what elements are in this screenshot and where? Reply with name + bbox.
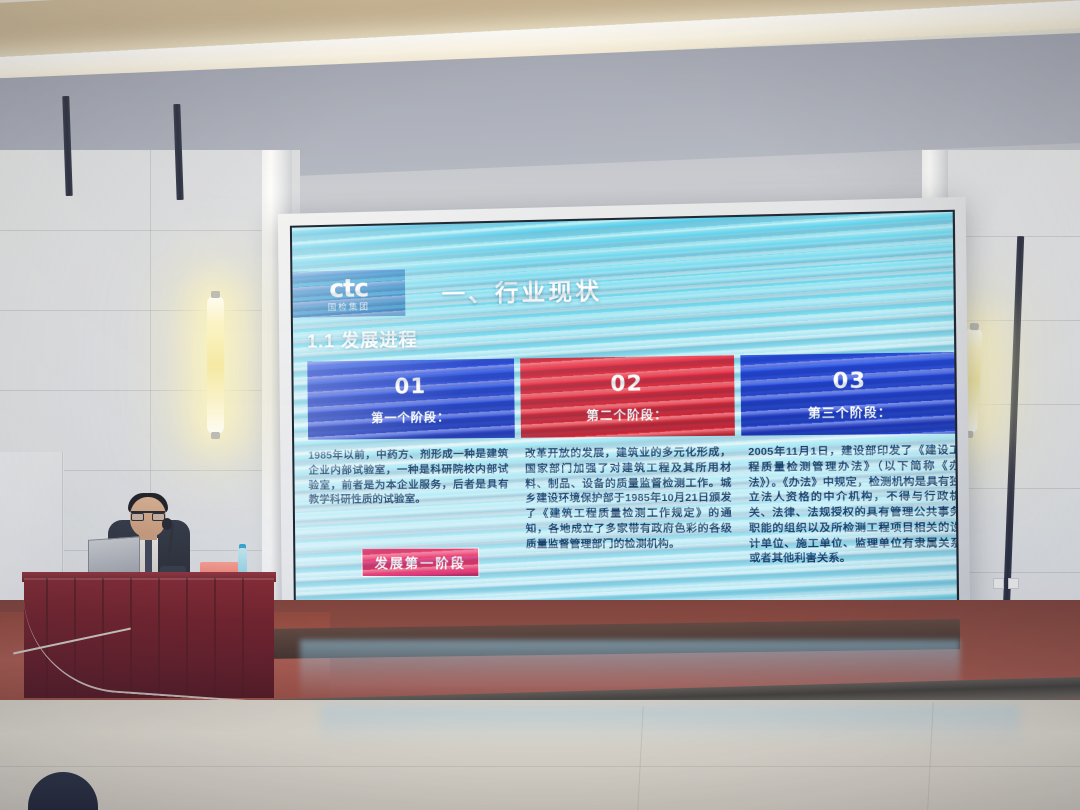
sconce-cap-top <box>211 291 221 298</box>
wall-switch[interactable] <box>993 578 1004 589</box>
phase-body-01: 1985年以前，中药方、剂形成一种是建筑企业内部试验室，一种是科研院校内部试验室… <box>308 448 510 600</box>
phase-number: 02 <box>610 373 643 395</box>
ctc-logo: ctc 国检集团 <box>292 269 405 317</box>
floor-tile-seam <box>0 766 1080 767</box>
phase-banner: 01 第一个阶段： 02 第二个阶段： 03 第三个阶段： <box>307 352 959 440</box>
ctc-logo-subtext: 国检集团 <box>328 303 370 312</box>
glasses-lens-left <box>131 513 144 521</box>
phase-body-02: 改革开放的发展，建筑业的多元化形成，国家部门加强了对建筑工程及其所用材料、制品、… <box>525 446 733 601</box>
phase-label: 第三个阶段： <box>808 406 892 419</box>
slide-header: ctc 国检集团 一、行业现状 <box>292 258 953 318</box>
phase-block-02: 02 第二个阶段： <box>520 355 734 437</box>
presentation-slide: ctc 国检集团 一、行业现状 1.1 发展进程 01 第一个阶段： 02 第二… <box>292 212 957 620</box>
conference-hall-photo: ctc 国检集团 一、行业现状 1.1 发展进程 01 第一个阶段： 02 第二… <box>0 0 1080 810</box>
slide-subtitle: 1.1 发展进程 <box>307 326 418 354</box>
phase-block-03: 03 第三个阶段： <box>740 352 959 436</box>
front-floor-reflection <box>320 706 1020 746</box>
wall-sconce-left <box>207 296 224 434</box>
sconce-cap-top <box>969 323 979 330</box>
slide-text-columns: 1985年以前，中药方、剂形成一种是建筑企业内部试验室，一种是科研院校内部试验室… <box>308 444 959 601</box>
water-bottle <box>238 548 247 574</box>
sconce-tube <box>207 296 224 434</box>
phase-label: 第二个阶段： <box>586 408 668 421</box>
wall-switch[interactable] <box>1008 578 1019 589</box>
phase-block-01: 01 第一个阶段： <box>307 359 515 440</box>
led-screen[interactable]: ctc 国检集团 一、行业现状 1.1 发展进程 01 第一个阶段： 02 第二… <box>290 210 959 622</box>
led-screen-frame: ctc 国检集团 一、行业现状 1.1 发展进程 01 第一个阶段： 02 第二… <box>278 197 971 637</box>
phase-body-03: 2005年11月1日，建设部印发了《建设工程质量检测管理办法》（以下简称《办法》… <box>748 444 959 601</box>
phase-number: 01 <box>394 375 426 397</box>
phase-number: 03 <box>832 369 866 391</box>
ctc-logo-text: ctc <box>329 275 368 301</box>
slide-section-title: 一、行业现状 <box>441 271 602 309</box>
stage-highlight-tag: 发展第一阶段 <box>361 548 479 577</box>
presenter-tie <box>145 540 152 576</box>
glasses-icon <box>131 511 165 519</box>
phase-label: 第一个阶段： <box>371 411 450 424</box>
sconce-cap-bottom <box>211 432 221 439</box>
